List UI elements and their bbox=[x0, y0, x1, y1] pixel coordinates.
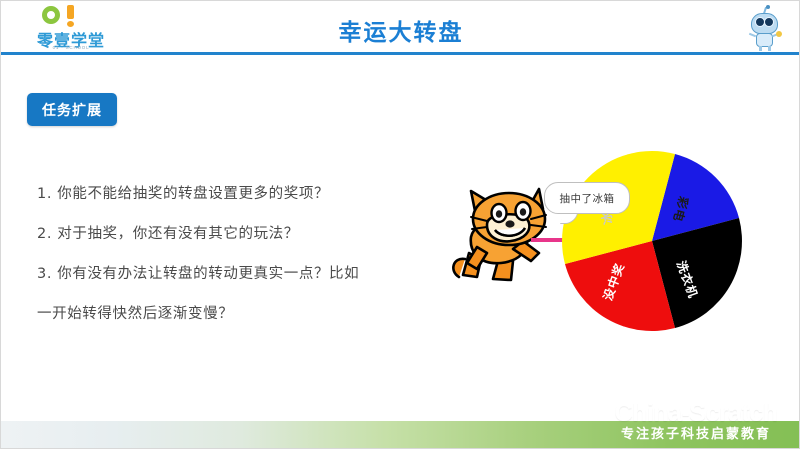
prize-wheel: 彩电 洗衣机 没中奖 冰箱 bbox=[562, 151, 742, 331]
question-list: 1. 你能不能给抽奖的转盘设置更多的奖项？ 2. 对于抽奖，你还有没有其它的玩法… bbox=[37, 174, 457, 334]
watermark-tagline: 专注孩子科技启蒙教育 bbox=[601, 426, 791, 444]
watermark: China-Scratch 专注孩子科技启蒙教育 bbox=[601, 400, 791, 446]
question-item-2: 2. 对于抽奖，你还有没有其它的玩法？ bbox=[37, 214, 457, 254]
robot-body bbox=[756, 33, 773, 47]
speech-bubble: 抽中了冰箱 bbox=[544, 182, 630, 214]
robot-leg-left bbox=[759, 46, 762, 51]
robot-eye-right bbox=[764, 17, 774, 27]
question-item-1: 1. 你能不能给抽奖的转盘设置更多的奖项？ bbox=[37, 174, 457, 214]
section-badge-task-extension: 任务扩展 bbox=[27, 93, 117, 126]
robot-arm-left bbox=[749, 33, 756, 37]
section-badge-label: 任务扩展 bbox=[42, 100, 102, 120]
robot-mascot-icon bbox=[743, 7, 787, 51]
presentation-slide: 零壹学堂 01 · SCHOOL 幸运大转盘 任务扩展 1. 你能不能给抽奖的转… bbox=[0, 0, 800, 449]
question-item-3-continuation: 一开始转得快然后逐渐变慢？ bbox=[37, 294, 457, 334]
slide-header: 零壹学堂 01 · SCHOOL 幸运大转盘 bbox=[1, 1, 800, 54]
question-item-3: 3. 你有没有办法让转盘的转动更真实一点？比如 bbox=[37, 254, 457, 294]
page-title: 幸运大转盘 bbox=[1, 13, 800, 47]
robot-leg-right bbox=[768, 46, 771, 51]
robot-antenna-ball bbox=[766, 5, 770, 9]
header-divider bbox=[1, 52, 800, 55]
robot-hand-item bbox=[776, 31, 782, 37]
watermark-brand: China-Scratch bbox=[601, 400, 791, 426]
speech-bubble-text: 抽中了冰箱 bbox=[560, 191, 615, 206]
